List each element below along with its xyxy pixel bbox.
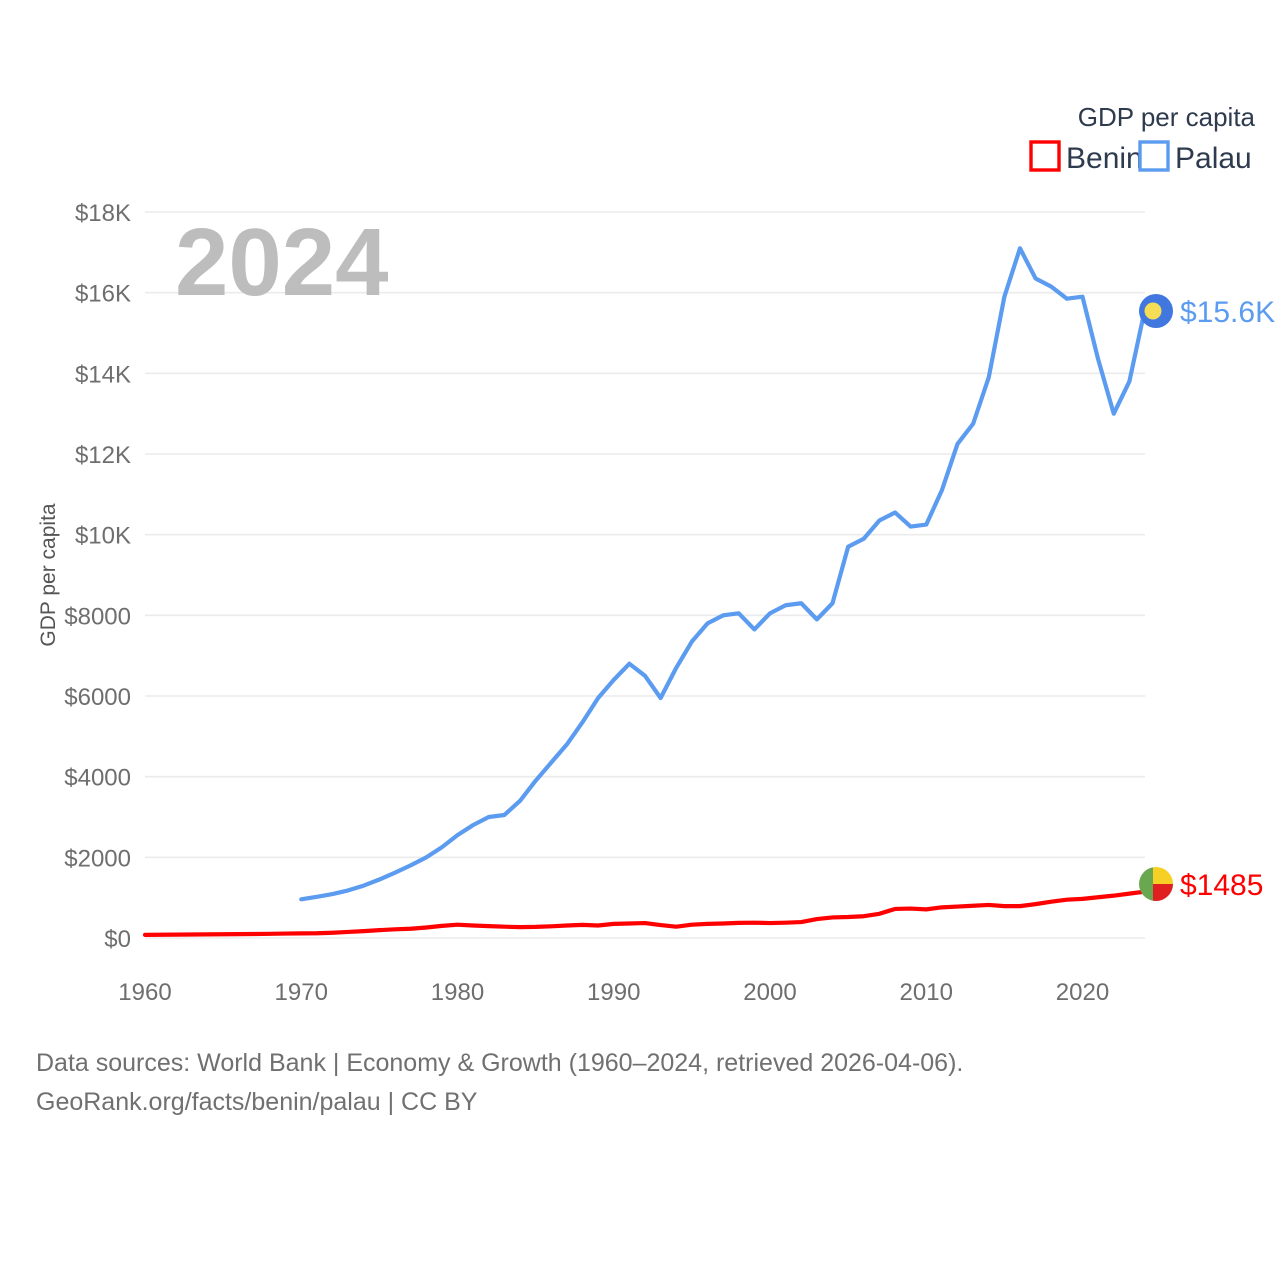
footer-line-attribution: GeoRank.org/facts/benin/palau | CC BY <box>36 1088 478 1116</box>
series-lines <box>145 248 1145 935</box>
palau-flag-disc-icon <box>1145 303 1162 320</box>
x-axis-tick-label: 2020 <box>1056 979 1109 1006</box>
y-axis-tick-label: $10K <box>75 523 131 550</box>
legend-item-benin[interactable]: Benin <box>1031 142 1143 175</box>
footer-line-sources: Data sources: World Bank | Economy & Gro… <box>36 1049 963 1077</box>
palau-endpoint[interactable]: $15.6K <box>1139 294 1275 329</box>
palau-swatch <box>1140 142 1168 170</box>
benin-swatch <box>1031 142 1059 170</box>
x-axis-tick-label: 1990 <box>587 979 640 1006</box>
benin-flag-icon <box>1139 867 1173 901</box>
palau-endpoint-label: $15.6K <box>1180 296 1275 329</box>
y-axis-ticks: $0$2000$4000$6000$8000$10K$12K$14K$16K$1… <box>64 200 131 953</box>
series-line-benin <box>145 892 1145 935</box>
y-axis-title: GDP per capita <box>37 503 60 647</box>
legend-title: GDP per capita <box>1078 102 1256 132</box>
y-axis-tick-label: $2000 <box>64 845 131 872</box>
legend-label-benin: Benin <box>1066 142 1143 175</box>
y-axis-tick-label: $18K <box>75 200 131 227</box>
x-axis-tick-label: 1960 <box>118 979 171 1006</box>
x-axis-tick-label: 2000 <box>743 979 796 1006</box>
x-axis-tick-label: 1980 <box>431 979 484 1006</box>
y-axis-tick-label: $16K <box>75 281 131 308</box>
gdp-per-capita-chart: $0$2000$4000$6000$8000$10K$12K$14K$16K$1… <box>0 0 1280 1280</box>
x-axis-ticks: 1960197019801990200020102020 <box>118 979 1109 1006</box>
legend-item-palau[interactable]: Palau <box>1140 142 1252 175</box>
series-line-palau <box>301 248 1145 899</box>
legend-label-palau: Palau <box>1175 142 1252 175</box>
y-axis-tick-label: $8000 <box>64 603 131 630</box>
gridlines <box>145 212 1145 938</box>
watermark-year: 2024 <box>175 209 389 316</box>
legend: GDP per capita Benin Palau <box>1031 102 1256 175</box>
y-axis-tick-label: $12K <box>75 442 131 469</box>
y-axis-tick-label: $4000 <box>64 765 131 792</box>
benin-endpoint-label: $1485 <box>1180 869 1263 902</box>
y-axis-tick-label: $0 <box>104 926 131 953</box>
benin-endpoint[interactable]: $1485 <box>1139 867 1263 902</box>
y-axis-tick-label: $6000 <box>64 684 131 711</box>
footer: Data sources: World Bank | Economy & Gro… <box>36 1049 963 1116</box>
x-axis-tick-label: 1970 <box>275 979 328 1006</box>
x-axis-tick-label: 2010 <box>900 979 953 1006</box>
chart-canvas: $0$2000$4000$6000$8000$10K$12K$14K$16K$1… <box>0 0 1280 1280</box>
y-axis-tick-label: $14K <box>75 361 131 388</box>
